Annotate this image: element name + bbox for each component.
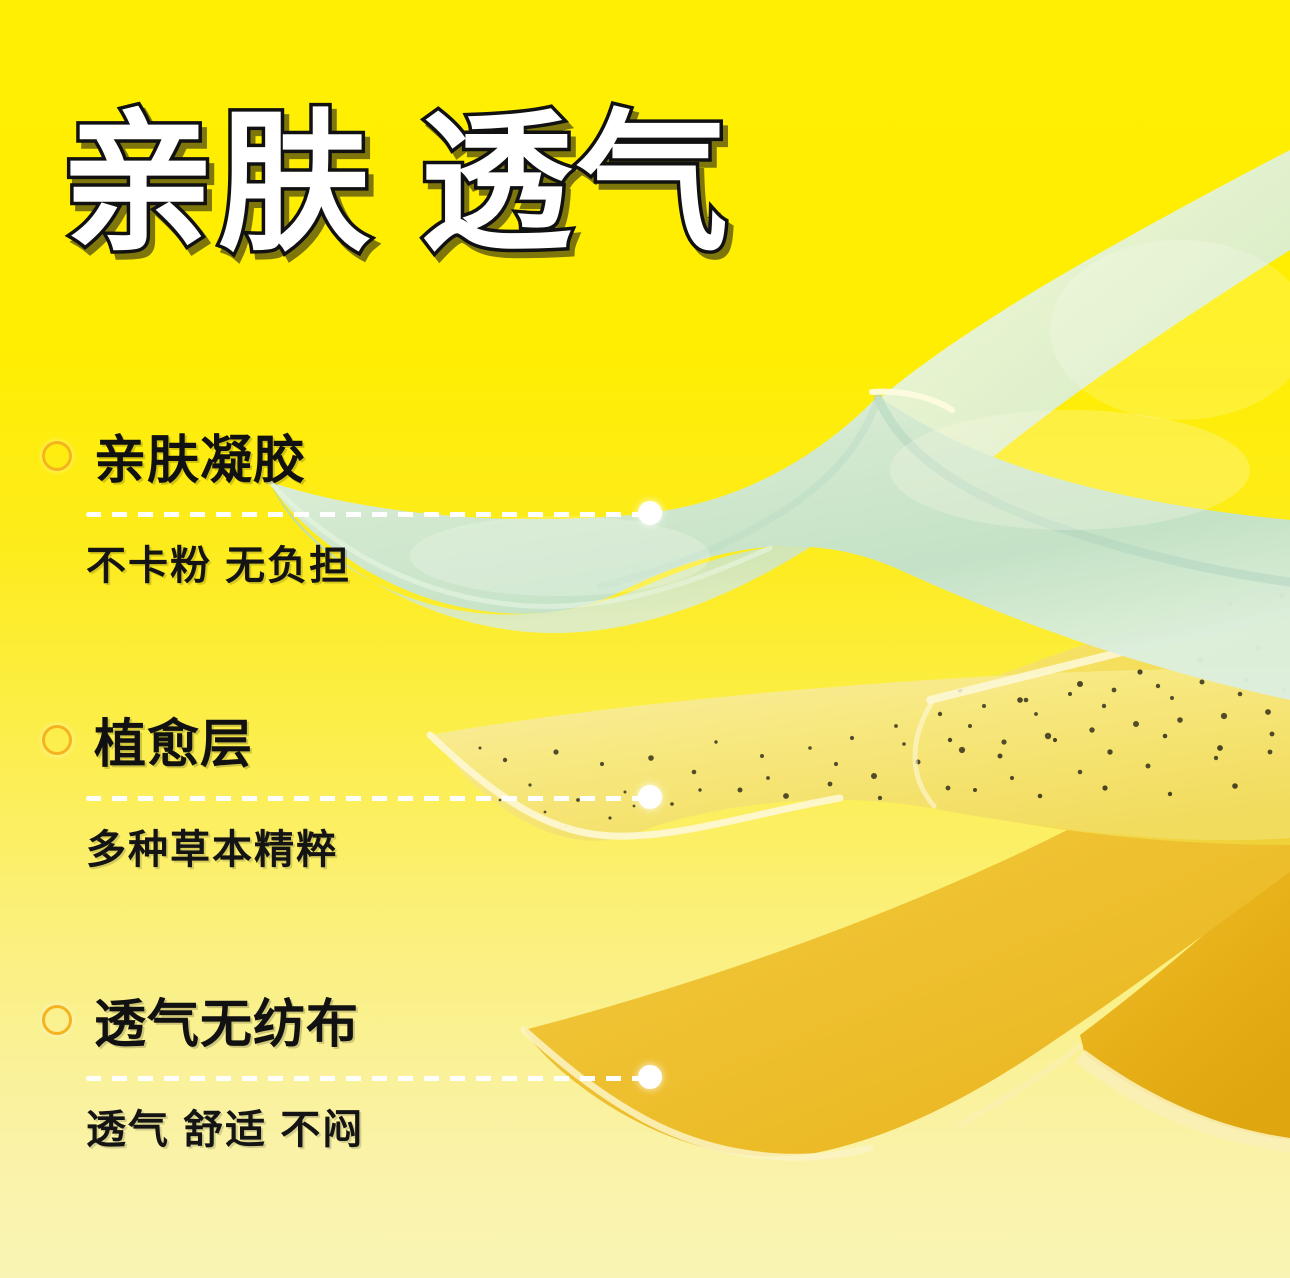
feature-subtitle: 透气 舒适 不闷: [86, 1097, 364, 1155]
circle-outline-icon: [42, 725, 72, 755]
herbal-sheet: [430, 572, 1290, 845]
page-title: 亲肤 透气: [62, 108, 732, 260]
feature-item-gel: 亲肤凝胶 不卡粉 无负担: [0, 418, 351, 591]
feature-subtitle: 多种草本精粹: [86, 817, 338, 875]
feature-header: 植愈层: [0, 702, 338, 777]
feature-connector: [86, 1067, 364, 1089]
dashed-leader-line: [86, 512, 646, 517]
circle-outline-icon: [42, 1005, 72, 1035]
feature-subtitle: 不卡粉 无负担: [86, 533, 351, 591]
feature-header: 透气无纺布: [0, 982, 364, 1057]
dashed-leader-line: [86, 796, 646, 801]
feature-header: 亲肤凝胶: [0, 418, 351, 493]
feature-title: 亲肤凝胶: [94, 418, 306, 493]
connector-endpoint-dot: [638, 1065, 662, 1089]
nonwoven-sheet: [524, 700, 1290, 1157]
dashed-leader-line: [86, 1076, 646, 1081]
feature-connector: [86, 503, 351, 525]
feature-connector: [86, 787, 338, 809]
poster-headline-wrap: 亲肤 透气: [62, 108, 732, 260]
connector-endpoint-dot: [638, 785, 662, 809]
product-feature-poster: 亲肤 透气 亲肤凝胶 不卡粉 无负担 植愈层 多种草本精粹 透气无纺布: [0, 0, 1290, 1278]
feature-title: 透气无纺布: [94, 982, 359, 1057]
feature-item-herbal: 植愈层 多种草本精粹: [0, 702, 338, 875]
connector-endpoint-dot: [638, 501, 662, 525]
circle-outline-icon: [42, 441, 72, 471]
feature-item-nonwoven: 透气无纺布 透气 舒适 不闷: [0, 982, 364, 1155]
feature-title: 植愈层: [94, 702, 253, 777]
